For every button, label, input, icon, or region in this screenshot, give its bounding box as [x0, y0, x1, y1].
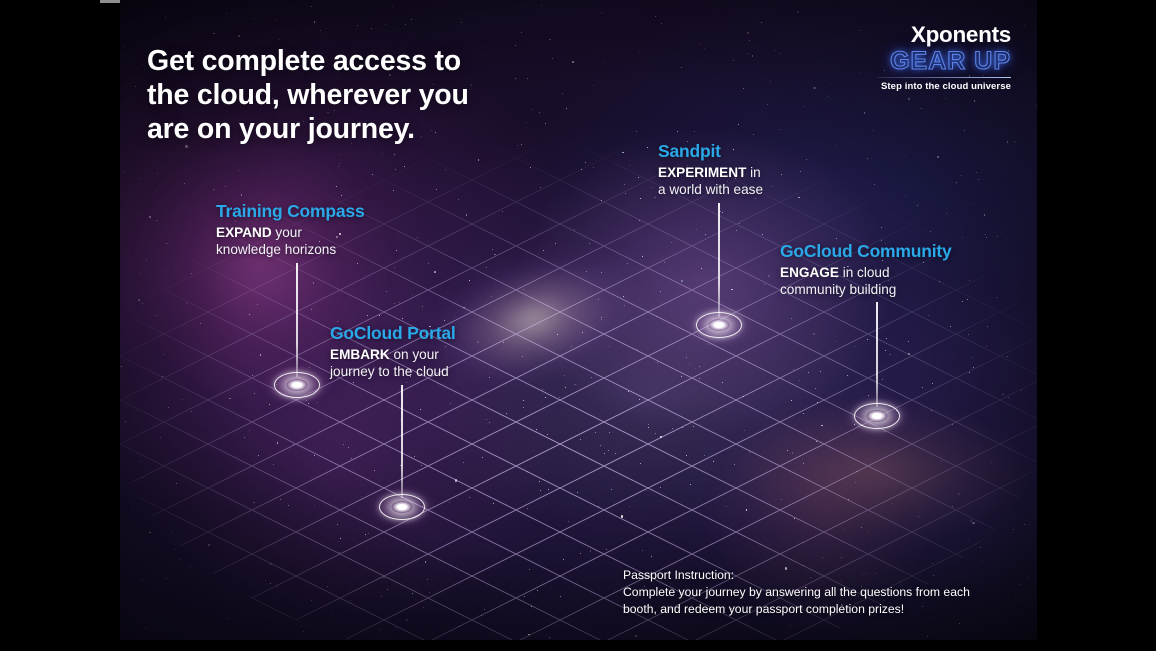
passport-instruction: Passport Instruction: Complete your jour…	[623, 567, 970, 617]
logo-tagline: Step into the cloud universe	[871, 81, 1011, 92]
hotspot-title-gocloud-portal: GoCloud Portal	[330, 322, 456, 345]
hotspot-body-gocloud-community-line1: ENGAGE in cloud	[780, 264, 952, 282]
hotspot-body-training-compass-line2: knowledge horizons	[216, 241, 365, 259]
frame-corner-marker	[100, 0, 120, 3]
slide-canvas: Get complete access to the cloud, wherev…	[0, 0, 1156, 651]
logo-wordmark: Xponents	[871, 24, 1011, 47]
headline-line-2: the cloud, wherever you	[147, 78, 547, 112]
hotspot-action-training-compass: EXPAND	[216, 225, 272, 240]
poster-artwork: Get complete access to the cloud, wherev…	[120, 0, 1037, 640]
hotspot-action-gocloud-community: ENGAGE	[780, 265, 839, 280]
hotspot-body-sandpit-line1: EXPERIMENT in	[658, 164, 763, 182]
hotspot-title-gocloud-community: GoCloud Community	[780, 240, 952, 263]
headline-line-3: are on your journey.	[147, 112, 547, 146]
beacon-gocloud-community[interactable]	[854, 403, 900, 429]
hotspot-label-training-compass[interactable]: Training Compass EXPAND your knowledge h…	[216, 200, 365, 259]
hotspot-label-gocloud-community[interactable]: GoCloud Community ENGAGE in cloud commun…	[780, 240, 952, 299]
logo-divider	[877, 77, 1011, 78]
beacon-core	[287, 379, 308, 391]
hotspot-body-gocloud-portal-line2: journey to the cloud	[330, 363, 456, 381]
hotspot-title-training-compass: Training Compass	[216, 200, 365, 223]
hotspot-body-rest-training-compass: your	[272, 225, 302, 240]
page-title: Get complete access to the cloud, wherev…	[147, 44, 547, 147]
beacon-sandpit[interactable]	[696, 312, 742, 338]
beacon-core	[709, 319, 730, 331]
beacon-training-compass[interactable]	[274, 372, 320, 398]
hotspot-body-rest-gocloud-portal: on your	[390, 347, 439, 362]
beacon-core	[867, 410, 888, 422]
hotspot-action-gocloud-portal: EMBARK	[330, 347, 390, 362]
hotspot-body-gocloud-community-line2: community building	[780, 281, 952, 299]
hotspot-body-sandpit-line2: a world with ease	[658, 181, 763, 199]
hotspot-body-rest-gocloud-community: in cloud	[839, 265, 890, 280]
passport-line-2: booth, and redeem your passport completi…	[623, 601, 970, 618]
passport-line-1: Complete your journey by answering all t…	[623, 584, 970, 601]
brand-logo: Xponents GEAR UP Step into the cloud uni…	[871, 24, 1011, 92]
hotspot-title-sandpit: Sandpit	[658, 140, 763, 163]
hotspot-body-rest-sandpit: in	[746, 165, 760, 180]
hotspot-body-gocloud-portal-line1: EMBARK on your	[330, 346, 456, 364]
hotspot-label-sandpit[interactable]: Sandpit EXPERIMENT in a world with ease	[658, 140, 763, 199]
logo-gear-up-text: GEAR UP	[871, 48, 1011, 74]
hotspot-body-training-compass-line1: EXPAND your	[216, 224, 365, 242]
hotspot-label-gocloud-portal[interactable]: GoCloud Portal EMBARK on your journey to…	[330, 322, 456, 381]
passport-heading: Passport Instruction:	[623, 567, 970, 584]
beacon-core	[392, 501, 413, 513]
headline-line-1: Get complete access to	[147, 44, 547, 78]
hotspot-action-sandpit: EXPERIMENT	[658, 165, 746, 180]
beacon-gocloud-portal[interactable]	[379, 494, 425, 520]
